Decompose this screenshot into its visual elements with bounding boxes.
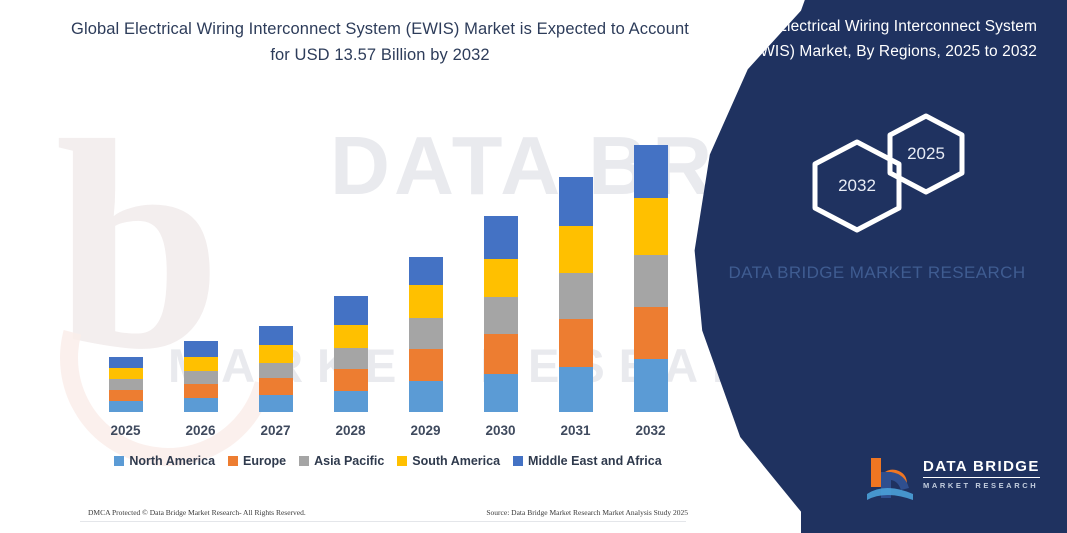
bar-segment [334,348,368,369]
bar-segment [109,357,143,368]
bar-segment [484,216,518,259]
bar-column [543,110,609,412]
bar-segment [259,326,293,345]
bar-segment [484,297,518,334]
legend-swatch-icon [513,456,523,466]
bar-segment [634,255,668,307]
bar-segment [184,371,218,384]
stacked-bar-2026 [184,341,218,412]
footer-source: Source: Data Bridge Market Research Mark… [486,508,688,517]
x-tick-2025: 2025 [93,423,159,438]
chart-footer: DMCA Protected © Data Bridge Market Rese… [88,508,688,517]
bar-segment [184,357,218,371]
hexagon-start-year: 2025 [883,112,969,196]
data-bridge-logo: DATA BRIDGE MARKET RESEARCH [865,452,1055,504]
chart-legend: North AmericaEuropeAsia PacificSouth Ame… [88,454,688,468]
bar-column [243,110,309,412]
bar-segment [184,398,218,412]
stacked-bar-2032 [634,145,668,412]
hexagon-start-year-label: 2025 [907,144,945,164]
chart-plot-area [88,110,688,412]
bar-segment [634,198,668,255]
bar-segment [484,374,518,412]
bar-segment [334,296,368,325]
stacked-bar-2030 [484,216,518,412]
chart-panel: b DATA BRIDGE MARKET RESEARCH Global Ele… [0,0,740,533]
legend-label: Asia Pacific [314,454,384,468]
legend-item[interactable]: North America [114,454,215,468]
bar-segment [559,319,593,367]
stacked-bar-2029 [409,257,443,412]
bar-segment [334,325,368,348]
chart-baseline [80,521,686,522]
bar-segment [334,391,368,412]
logo-line2: MARKET RESEARCH [923,481,1055,490]
legend-swatch-icon [397,456,407,466]
bar-segment [559,226,593,273]
x-tick-2029: 2029 [393,423,459,438]
bar-segment [109,401,143,412]
bar-segment [559,177,593,226]
bar-segment [259,363,293,378]
branding-panel: Global Electrical Wiring Interconnect Sy… [687,0,1067,533]
stacked-bar-2031 [559,177,593,412]
bridge-b-icon [865,454,917,502]
footer-copyright: DMCA Protected © Data Bridge Market Rese… [88,508,306,517]
x-tick-2026: 2026 [168,423,234,438]
bar-column [468,110,534,412]
stacked-bar-2025 [109,357,143,412]
bar-segment [484,334,518,375]
bar-column [168,110,234,412]
bar-segment [409,318,443,349]
bar-segment [634,359,668,412]
legend-swatch-icon [299,456,309,466]
bar-segment [259,378,293,395]
bar-segment [184,341,218,357]
bar-segment [184,384,218,398]
bar-column [393,110,459,412]
bar-segment [409,285,443,318]
legend-label: Europe [243,454,286,468]
legend-item[interactable]: South America [397,454,500,468]
legend-item[interactable]: Middle East and Africa [513,454,662,468]
x-tick-2030: 2030 [468,423,534,438]
brand-name-text: DATA BRIDGE MARKET RESEARCH [717,260,1037,286]
logo-line1: DATA BRIDGE [923,458,1040,478]
bar-segment [409,349,443,381]
bar-column [618,110,684,412]
bar-column [318,110,384,412]
bar-segment [259,345,293,363]
chart-headline: Global Electrical Wiring Interconnect Sy… [70,16,690,68]
bar-segment [409,381,443,412]
logo-mark-icon [865,454,917,502]
legend-label: South America [412,454,500,468]
stacked-bar-2028 [334,296,368,412]
bar-segment [259,395,293,412]
bar-segment [109,368,143,379]
x-tick-2032: 2032 [618,423,684,438]
bar-segment [334,369,368,391]
bar-segment [484,259,518,297]
bar-segment [109,379,143,390]
legend-item[interactable]: Europe [228,454,286,468]
legend-swatch-icon [114,456,124,466]
legend-label: North America [129,454,215,468]
x-tick-2027: 2027 [243,423,309,438]
bar-segment [109,390,143,401]
legend-item[interactable]: Asia Pacific [299,454,384,468]
bar-column [93,110,159,412]
bar-segment [559,273,593,319]
bar-segment [409,257,443,285]
stacked-bar-2027 [259,326,293,412]
x-tick-2031: 2031 [543,423,609,438]
hexagon-end-year-label: 2032 [838,176,876,196]
bar-segment [559,367,593,412]
legend-swatch-icon [228,456,238,466]
x-axis-labels: 20252026202720282029203020312032 [88,419,688,441]
legend-label: Middle East and Africa [528,454,662,468]
bar-segment [634,145,668,198]
bar-segment [634,307,668,359]
x-tick-2028: 2028 [318,423,384,438]
logo-wordmark: DATA BRIDGE MARKET RESEARCH [923,458,1055,490]
stacked-bar-group [88,110,688,412]
